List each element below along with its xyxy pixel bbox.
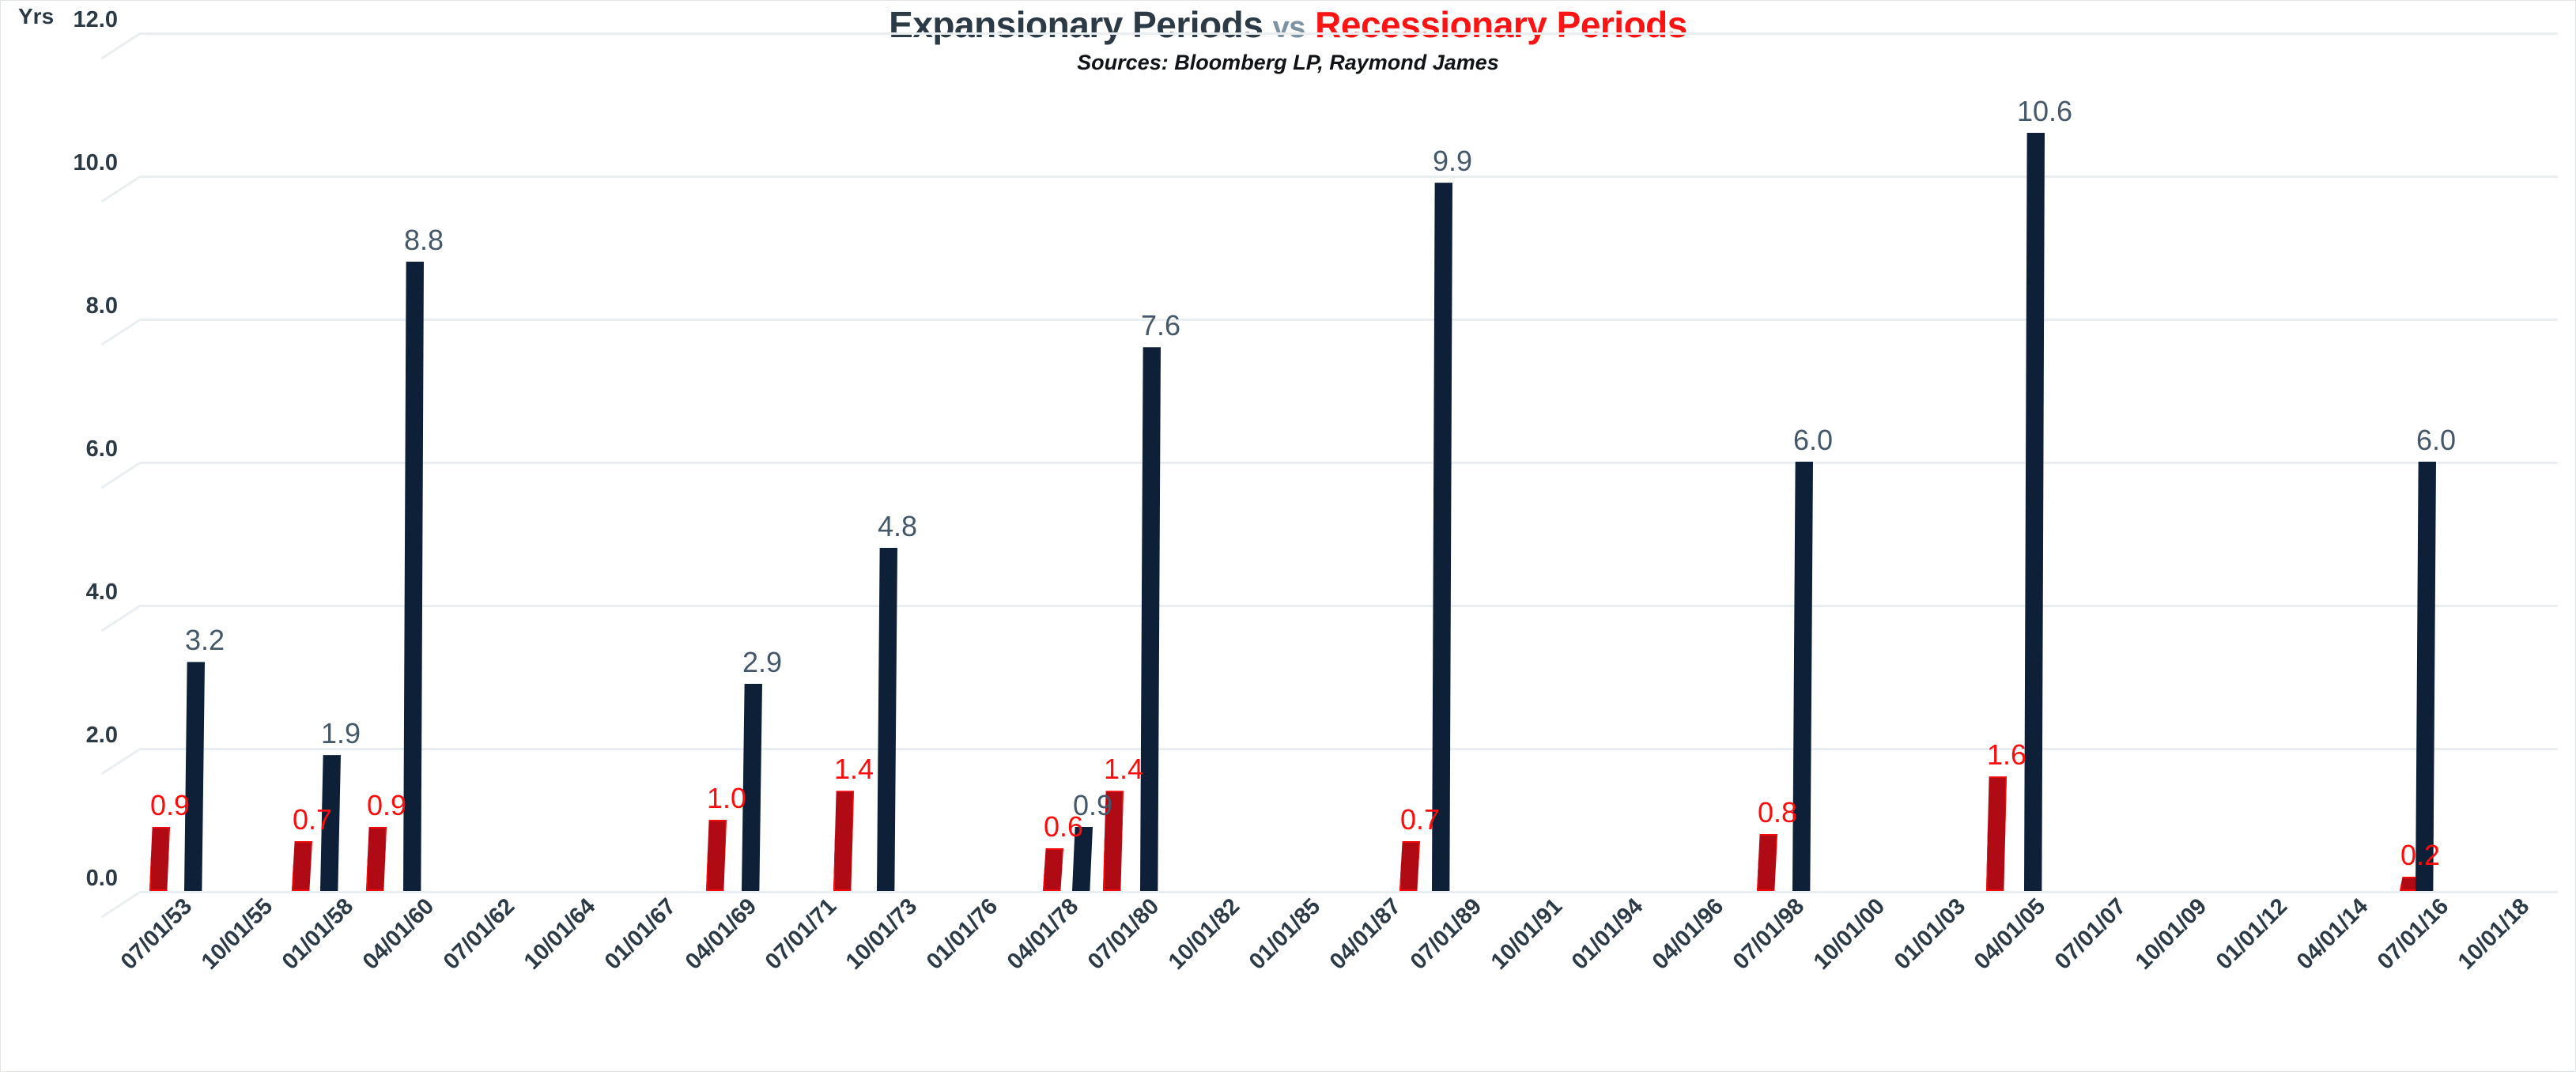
y-axis-tick-label: 10.0 <box>1 150 118 176</box>
gridline-perspective-leader <box>101 891 141 918</box>
y-axis-tick-label: 2.0 <box>1 723 118 749</box>
gridline-perspective-leader <box>101 319 141 345</box>
recession-data-label: 1.0 <box>679 782 774 815</box>
recession-data-label: 1.6 <box>1959 738 2054 772</box>
bar-outline <box>1399 841 1420 891</box>
bar-outline <box>1043 848 1063 891</box>
gridline <box>140 462 2558 464</box>
gridline <box>140 176 2558 178</box>
recession-data-label: 1.4 <box>806 753 901 786</box>
bar-face <box>2415 462 2436 891</box>
expansion-data-label: 3.2 <box>157 624 252 657</box>
y-axis-tick-label: 12.0 <box>1 7 118 33</box>
expansion-data-label: 1.9 <box>293 717 388 750</box>
gridline <box>140 319 2558 321</box>
bar-outline <box>366 827 387 891</box>
y-axis-tick-label: 6.0 <box>1 436 118 462</box>
gridline <box>140 605 2558 607</box>
bar-face <box>877 548 897 891</box>
recession-bar <box>366 827 387 891</box>
bar-outline <box>833 791 854 891</box>
gridline-perspective-leader <box>101 176 141 202</box>
expansion-data-label: 8.8 <box>376 224 471 257</box>
recession-bar <box>706 820 727 892</box>
bar-outline <box>1757 834 1777 891</box>
recession-bar <box>833 791 854 891</box>
recession-data-label: 0.2 <box>2373 839 2468 872</box>
expansion-bar <box>1432 183 1452 891</box>
y-axis-tick-label: 8.0 <box>1 293 118 319</box>
bar-face <box>1432 183 1452 891</box>
recession-data-label: 0.8 <box>1730 796 1825 829</box>
recession-data-label: 0.7 <box>1373 803 1467 836</box>
y-axis-tick-label: 0.0 <box>1 866 118 892</box>
recession-bar <box>1757 834 1777 891</box>
bar-face <box>184 662 205 891</box>
x-axis-tick-labels: 07/01/5310/01/5501/01/5804/01/6007/01/62… <box>140 893 2558 1072</box>
expansion-bar <box>2024 133 2045 891</box>
gridline <box>140 32 2558 35</box>
recession-bar <box>149 827 170 891</box>
bar-outline <box>1986 776 2007 891</box>
expansion-data-label: 4.8 <box>850 510 945 543</box>
recession-bar <box>1399 841 1420 891</box>
recession-bar <box>1043 848 1063 891</box>
recession-bar <box>292 841 312 891</box>
gridline-perspective-leader <box>101 605 141 632</box>
expansion-data-label: 2.9 <box>715 646 810 679</box>
y-axis-tick-label: 4.0 <box>1 579 118 606</box>
bar-face <box>2024 133 2045 891</box>
bar-face <box>1140 347 1161 891</box>
expansion-bar <box>184 662 205 891</box>
expansion-data-label: 6.0 <box>1766 424 1860 457</box>
expansion-data-label: 0.9 <box>1045 789 1140 822</box>
expansion-bar <box>877 548 897 891</box>
chart-canvas: Yrs Expansionary Periods vs Recessionary… <box>0 0 2576 1072</box>
gridline-perspective-leader <box>101 462 141 489</box>
gridline-perspective-leader <box>101 748 141 775</box>
recession-data-label: 0.9 <box>123 789 217 822</box>
bar-outline <box>706 820 727 892</box>
recession-bar <box>1986 776 2007 891</box>
gridline <box>140 748 2558 750</box>
gridline-perspective-leader <box>101 32 141 59</box>
expansion-data-label: 7.6 <box>1113 309 1208 342</box>
bar-outline <box>292 841 312 891</box>
expansion-data-label: 9.9 <box>1405 145 1500 178</box>
expansion-bar <box>1140 347 1161 891</box>
recession-data-label: 1.4 <box>1076 753 1171 786</box>
recession-data-label: 0.9 <box>339 789 434 822</box>
expansion-data-label: 6.0 <box>2389 424 2483 457</box>
plot-area: 0.93.20.71.90.98.81.02.91.44.80.60.91.47… <box>140 32 2558 891</box>
expansion-bar <box>2415 462 2436 891</box>
expansion-data-label: 10.6 <box>1997 95 2092 128</box>
bar-outline <box>149 827 170 891</box>
